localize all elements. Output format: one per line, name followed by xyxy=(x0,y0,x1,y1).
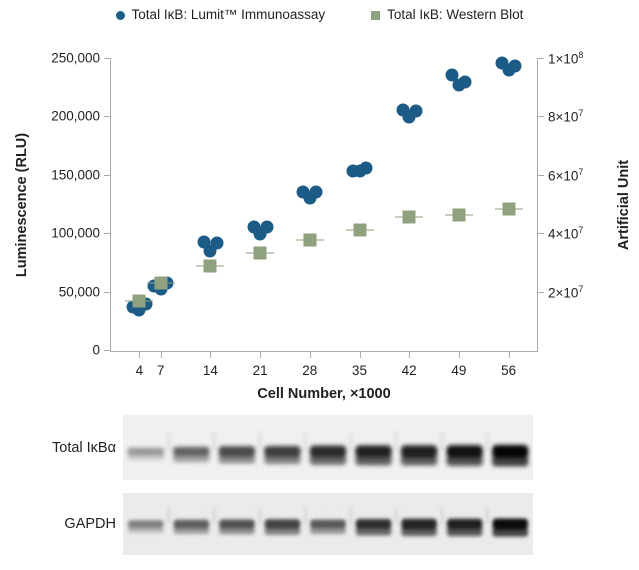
data-point-western-blot xyxy=(303,234,316,247)
data-point-lumit xyxy=(210,237,223,250)
scatter-plot: Luminescence (RLU) Artificial Unit 050,0… xyxy=(0,34,639,394)
x-axis-tick-label: 7 xyxy=(157,363,165,378)
y-axis-tick-label-left: 150,000 xyxy=(51,167,100,182)
legend-item-lumit: Total IκB: Lumit™ Immunoassay xyxy=(116,8,326,22)
data-point-lumit xyxy=(310,185,323,198)
x-axis-tick-label: 21 xyxy=(253,363,268,378)
y-axis-title-left: Luminescence (RLU) xyxy=(12,58,32,352)
blot-image-gapdh xyxy=(123,493,533,555)
legend-label-lumit: Total IκB: Lumit™ Immunoassay xyxy=(132,8,326,22)
y-axis-tick-left xyxy=(104,292,111,293)
blot-label-total-ikba: Total IκBα xyxy=(0,440,116,456)
data-point-western-blot xyxy=(154,276,167,289)
data-point-lumit xyxy=(409,105,422,118)
data-point-western-blot xyxy=(403,210,416,223)
western-blot-panel: Total IκBα GAPDH xyxy=(0,415,639,570)
y-axis-title-left-text: Luminescence (RLU) xyxy=(14,133,30,277)
y-axis-tick-label-right: 8×107 xyxy=(548,108,583,125)
figure-root: Total IκB: Lumit™ Immunoassay Total IκB:… xyxy=(0,0,639,570)
plot-frame: 050,000100,000150,000200,000250,0002×107… xyxy=(110,58,538,352)
x-axis-tick-label: 28 xyxy=(302,363,317,378)
y-axis-title-right: Artificial Unit xyxy=(614,58,634,352)
x-axis-tick xyxy=(210,351,211,358)
y-axis-tick-right xyxy=(537,175,544,176)
blot-row-gapdh: GAPDH xyxy=(0,493,639,555)
y-axis-tick-left xyxy=(104,116,111,117)
x-axis-tick xyxy=(509,351,510,358)
y-axis-tick-left xyxy=(104,58,111,59)
x-axis-tick xyxy=(260,351,261,358)
data-point-lumit xyxy=(260,220,273,233)
y-axis-tick-label-left: 0 xyxy=(92,343,100,358)
y-axis-tick-label-right: 6×107 xyxy=(548,167,583,184)
y-axis-tick-left xyxy=(104,233,111,234)
y-axis-tick-left xyxy=(104,175,111,176)
y-axis-tick-right xyxy=(537,58,544,59)
x-axis-tick xyxy=(139,351,140,358)
x-axis-tick-label: 56 xyxy=(501,363,516,378)
y-axis-tick-label-left: 250,000 xyxy=(51,51,100,66)
x-axis-tick-label: 49 xyxy=(451,363,466,378)
blot-row-total-ikba: Total IκBα xyxy=(0,415,639,480)
data-point-western-blot xyxy=(133,294,146,307)
x-axis-tick xyxy=(161,351,162,358)
x-axis-tick xyxy=(409,351,410,358)
y-axis-title-right-text: Artificial Unit xyxy=(616,160,632,250)
data-point-western-blot xyxy=(502,203,515,216)
legend-square-marker-icon xyxy=(371,11,380,20)
y-axis-tick-label-right: 2×107 xyxy=(548,283,583,300)
y-axis-tick-label-right: 1×108 xyxy=(548,50,583,67)
data-point-western-blot xyxy=(353,223,366,236)
data-point-western-blot xyxy=(452,209,465,222)
y-axis-tick-label-left: 50,000 xyxy=(59,284,100,299)
x-axis-title: Cell Number, ×1000 xyxy=(110,386,538,402)
legend-item-western-blot: Total IκB: Western Blot xyxy=(371,8,523,22)
x-axis-tick-label: 14 xyxy=(203,363,218,378)
data-point-western-blot xyxy=(254,247,267,260)
x-axis-tick-label: 35 xyxy=(352,363,367,378)
x-axis-tick-label: 4 xyxy=(136,363,144,378)
blot-label-gapdh: GAPDH xyxy=(0,516,116,532)
y-axis-tick-label-left: 100,000 xyxy=(51,226,100,241)
chart-legend: Total IκB: Lumit™ Immunoassay Total IκB:… xyxy=(0,4,639,26)
y-axis-tick-label-left: 200,000 xyxy=(51,109,100,124)
y-axis-tick-right xyxy=(537,116,544,117)
legend-label-western-blot: Total IκB: Western Blot xyxy=(387,8,523,22)
data-point-western-blot xyxy=(204,259,217,272)
x-axis-tick xyxy=(310,351,311,358)
blot-image-total-ikba xyxy=(123,415,533,480)
data-point-lumit xyxy=(509,59,522,72)
y-axis-tick-label-right: 4×107 xyxy=(548,225,583,242)
plot-canvas xyxy=(111,58,537,351)
data-point-lumit xyxy=(459,75,472,88)
legend-circle-marker-icon xyxy=(116,11,125,20)
y-axis-tick-right xyxy=(537,292,544,293)
y-axis-tick-right xyxy=(537,233,544,234)
x-axis-tick xyxy=(360,351,361,358)
x-axis-tick xyxy=(459,351,460,358)
x-axis-tick-label: 42 xyxy=(402,363,417,378)
data-point-lumit xyxy=(360,161,373,174)
y-axis-tick-left xyxy=(104,350,111,351)
